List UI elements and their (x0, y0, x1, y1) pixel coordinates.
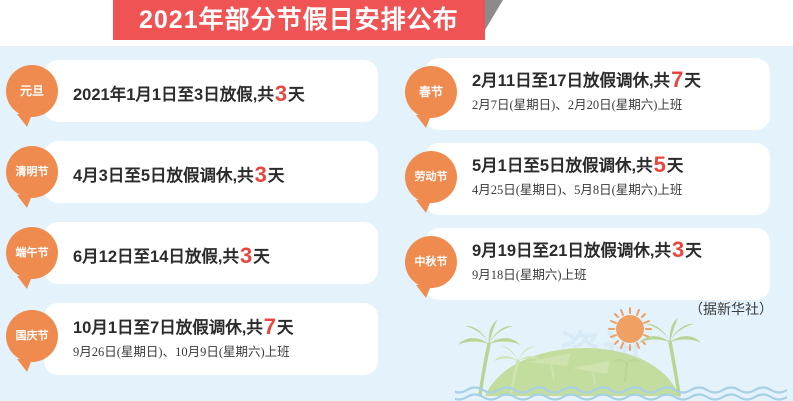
holiday-range-text: 5月1日至5日放假调休,共 (472, 157, 653, 175)
holiday-range-text: 4月3日至5日放假调休,共 (73, 167, 254, 185)
holiday-badge: 端午节 (6, 227, 58, 279)
holiday-entry: 9月19日至21日放假调休,共3天 9月18日(星期六)上班 (472, 236, 702, 283)
holiday-day-count: 7 (263, 314, 277, 339)
holiday-range-text: 2月11日至17日放假调休,共 (472, 72, 670, 90)
holiday-main-line: 2月11日至17日放假调休,共7天 (472, 66, 701, 94)
holiday-badge-label: 端午节 (16, 248, 49, 259)
holiday-range-text: 6月12日至14日放假,共 (73, 248, 239, 266)
title-banner: 2021年部分节假日安排公布 (113, 0, 485, 40)
holiday-entry: 2021年1月1日至3日放假,共3天 (73, 80, 305, 108)
holiday-entry: 2月11日至17日放假调休,共7天 2月7日(星期日)、2月20日(星期六)上班 (472, 66, 701, 113)
page-title: 2021年部分节假日安排公布 (139, 0, 459, 40)
holiday-badge: 中秋节 (405, 236, 457, 288)
source-attribution: （据新华社） (689, 299, 773, 319)
holiday-unit-text: 天 (288, 86, 305, 104)
holiday-workday-note: 4月25日(星期日)、5月8日(星期六)上班 (472, 182, 683, 199)
holiday-badge: 劳动节 (405, 151, 457, 203)
holiday-badge-label: 国庆节 (16, 331, 49, 342)
holiday-badge-label: 清明节 (16, 167, 49, 178)
holiday-badge-label: 元旦 (20, 85, 44, 97)
holiday-main-line: 5月1日至5日放假调休,共5天 (472, 151, 683, 179)
holiday-main-line: 6月12日至14日放假,共3天 (73, 242, 270, 270)
holiday-main-line: 9月19日至21日放假调休,共3天 (472, 236, 702, 264)
holiday-unit-text: 天 (667, 157, 684, 175)
holiday-range-text: 2021年1月1日至3日放假,共 (73, 86, 274, 104)
holiday-unit-text: 天 (277, 319, 294, 337)
sun-icon (609, 308, 651, 350)
banner-fold-icon (485, 0, 503, 30)
holiday-badge: 清明节 (6, 146, 58, 198)
holiday-schedule-poster: 2021年部分节假日安排公布 资讯 元旦 清明节 端午节 国庆节 春节 劳动节 … (0, 0, 793, 401)
holiday-badge: 元旦 (6, 65, 58, 117)
holiday-range-text: 10月1日至7日放假调休,共 (73, 319, 263, 337)
holiday-unit-text: 天 (684, 72, 701, 90)
holiday-badge: 国庆节 (6, 310, 58, 362)
holiday-unit-text: 天 (268, 167, 285, 185)
holiday-unit-text: 天 (253, 248, 270, 266)
holiday-badge: 春节 (405, 66, 457, 118)
holiday-main-line: 4月3日至5日放假调休,共3天 (73, 161, 284, 189)
holiday-workday-note: 9月18日(星期六)上班 (472, 267, 702, 284)
holiday-entry: 10月1日至7日放假调休,共7天 9月26日(星期日)、10月9日(星期六)上班 (73, 313, 294, 360)
holiday-day-count: 3 (254, 162, 268, 187)
holiday-day-count: 5 (653, 152, 667, 177)
holiday-entry: 6月12日至14日放假,共3天 (73, 242, 270, 270)
holiday-workday-note: 9月26日(星期日)、10月9日(星期六)上班 (73, 344, 294, 361)
holiday-entry: 4月3日至5日放假调休,共3天 (73, 161, 284, 189)
holiday-day-count: 3 (239, 243, 253, 268)
title-banner-wrap: 2021年部分节假日安排公布 (113, 0, 485, 40)
holiday-main-line: 2021年1月1日至3日放假,共3天 (73, 80, 305, 108)
holiday-badge-label: 春节 (419, 86, 443, 98)
holiday-badge-label: 中秋节 (415, 257, 448, 268)
holiday-day-count: 3 (671, 237, 685, 262)
holiday-entry: 5月1日至5日放假调休,共5天 4月25日(星期日)、5月8日(星期六)上班 (472, 151, 683, 198)
holiday-unit-text: 天 (685, 242, 702, 260)
holiday-workday-note: 2月7日(星期日)、2月20日(星期六)上班 (472, 97, 701, 114)
holiday-badge-label: 劳动节 (415, 172, 448, 183)
holiday-day-count: 7 (670, 67, 684, 92)
holiday-main-line: 10月1日至7日放假调休,共7天 (73, 313, 294, 341)
holiday-range-text: 9月19日至21日放假调休,共 (472, 242, 671, 260)
holiday-day-count: 3 (274, 81, 288, 106)
